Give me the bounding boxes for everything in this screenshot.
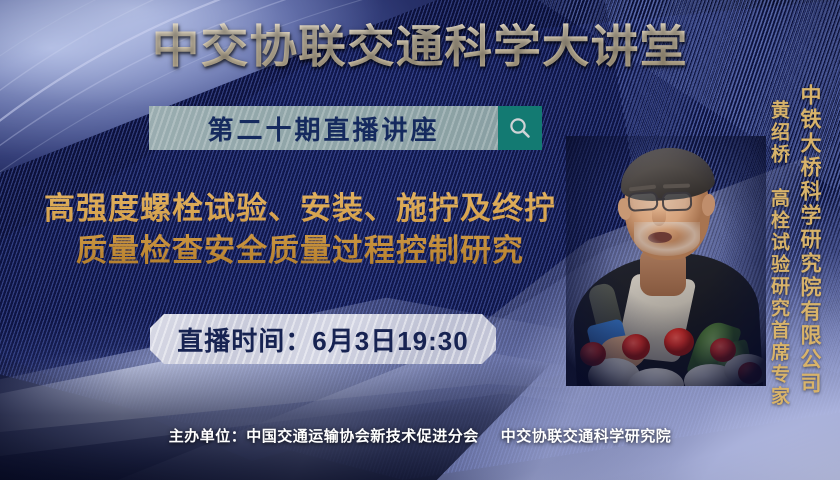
search-icon (507, 115, 533, 141)
broadcast-time-label: 直播时间：6月3日19:30 (177, 321, 468, 358)
footer-organizer-primary: 主办单位：中国交通运输协会新技术促进分会 (169, 428, 479, 445)
lecture-title: 高强度螺栓试验、安装、施拧及终拧 质量检查安全质量过程控制研究 (0, 188, 600, 271)
speaker-name-title: 黄绍桥 高栓试验研究首席专家 (765, 100, 792, 408)
speaker-organization: 中铁大桥科学研究院有限公司 (794, 84, 824, 396)
footer-organizers: 主办单位：中国交通运输协会新技术促进分会中交协联交通科学研究院 (0, 425, 840, 446)
episode-label: 第二十期直播讲座 (207, 110, 439, 147)
search-button[interactable] (498, 106, 542, 150)
broadcast-time-badge: 直播时间：6月3日19:30 (150, 314, 496, 364)
lecture-title-line2: 质量检查安全质量过程控制研究 (0, 230, 600, 272)
photo-edge-fade (566, 136, 766, 386)
footer-organizer-secondary: 中交协联交通科学研究院 (501, 428, 672, 445)
speaker-photo (566, 136, 766, 386)
main-title: 中交协联交通科学大讲堂 (0, 20, 840, 73)
episode-banner: 第二十期直播讲座 (149, 106, 498, 150)
lecture-title-line1: 高强度螺栓试验、安装、施拧及终拧 (0, 188, 600, 230)
live-lecture-poster: 中交协联交通科学大讲堂 中交协联交通科学大讲堂 第二十期直播讲座 高强度螺栓试验… (0, 0, 840, 480)
